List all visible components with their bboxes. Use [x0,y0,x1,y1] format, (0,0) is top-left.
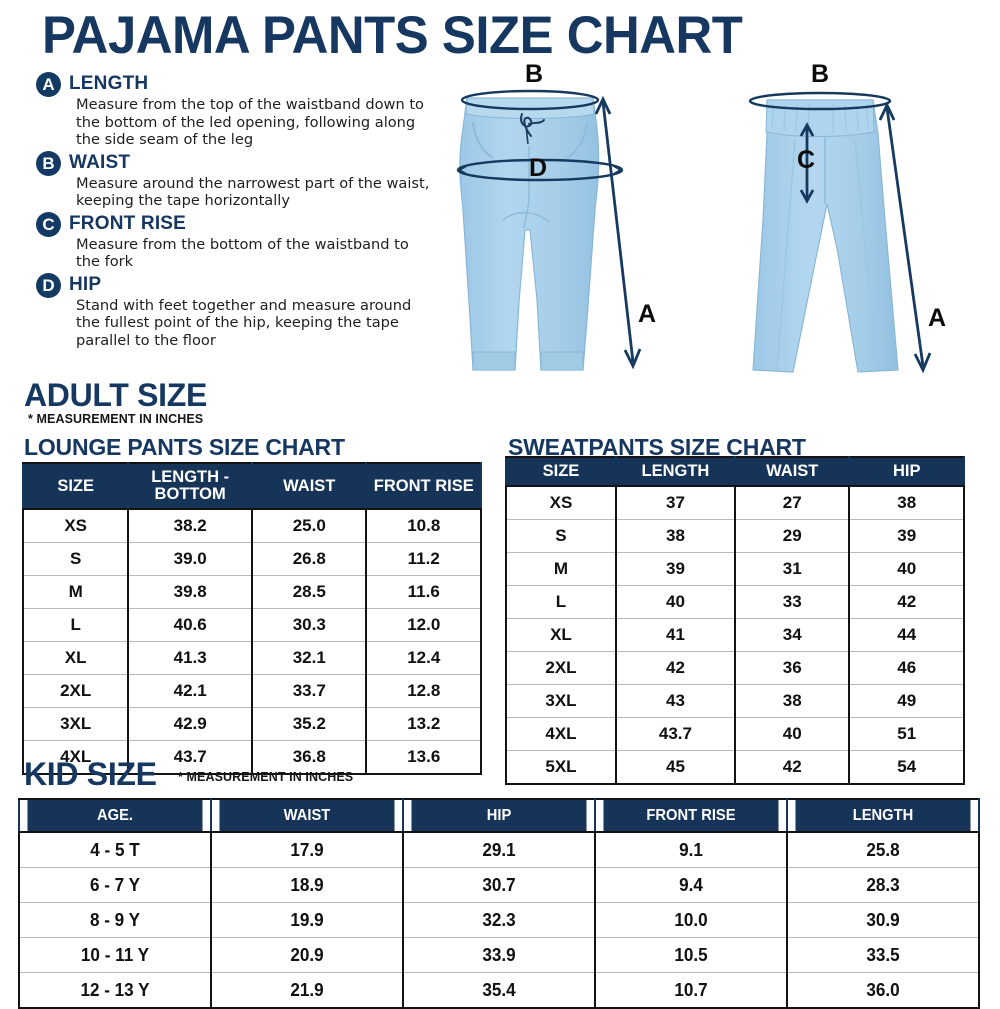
marker-a-length: A [928,306,946,331]
legend-heading: WAIST [69,151,436,175]
marker-b-waist: B [811,62,829,87]
cell-waist: 33.7 [252,675,367,708]
adult-size-heading: ADULT SIZE [24,378,207,412]
legend-item-hip: D HIP Stand with feet together and measu… [36,273,436,350]
jogger-pants-illustration: B D A [425,70,675,395]
table-row: 2XL 42 36 46 [506,652,964,685]
column-header-hip: HIP [849,457,964,486]
table-row: S 39.0 26.8 11.2 [23,543,481,576]
legend-description: Measure from the top of the waistband do… [76,96,436,149]
cell-length: 42 [616,652,735,685]
cell-hip: 42 [849,586,964,619]
cell-hip: 44 [849,619,964,652]
straight-pants-svg [715,70,965,395]
cell-hip: 35.4 [408,973,590,1009]
cell-length: 39 [616,553,735,586]
page-title: PAJAMA PANTS SIZE CHART [42,8,742,64]
table-header-row: AGE. WAIST HIP FRONT RISE LENGTH [19,799,979,832]
cell-size: S [23,543,128,576]
cell-hip: 30.7 [408,868,590,903]
cell-hip: 54 [849,751,964,785]
legend-description: Stand with feet together and measure aro… [76,297,436,350]
table-row: 5XL 45 42 54 [506,751,964,785]
table-row: 8 - 9 Y 19.9 32.3 10.0 30.9 [19,903,979,938]
column-header-age: AGE. [27,799,204,832]
marker-a-length: A [638,302,656,327]
column-header-size: SIZE [23,463,128,509]
jogger-pants-svg [425,70,675,395]
cell-waist: 32.1 [252,642,367,675]
cell-front-rise: 12.8 [366,675,481,708]
cell-length: 38.2 [128,509,252,543]
cell-front-rise: 13.6 [366,741,481,775]
cell-front-rise: 10.7 [600,973,782,1009]
cell-waist: 34 [735,619,850,652]
column-header-length: LENGTH [795,799,972,832]
lounge-pants-size-table: SIZE LENGTH - BOTTOM WAIST FRONT RISE XS… [22,462,482,775]
table-row: 4XL 43.7 40 51 [506,718,964,751]
cell-size: L [506,586,616,619]
legend-heading: LENGTH [69,72,436,96]
legend-item-length: A LENGTH Measure from the top of the wai… [36,72,436,149]
cell-length: 39.8 [128,576,252,609]
cell-hip: 32.3 [408,903,590,938]
cell-size: L [23,609,128,642]
column-header-waist: WAIST [219,799,396,832]
cell-length: 36.0 [792,973,974,1009]
cell-length: 42.1 [128,675,252,708]
cell-front-rise: 9.4 [600,868,782,903]
cell-age: 10 - 11 Y [24,938,206,973]
cell-age: 4 - 5 T [24,832,206,868]
table-row: L 40.6 30.3 12.0 [23,609,481,642]
cell-length: 28.3 [792,868,974,903]
cell-size: 3XL [23,708,128,741]
cell-length: 42.9 [128,708,252,741]
size-chart-page: PAJAMA PANTS SIZE CHART A LENGTH Measure… [0,0,1000,1000]
cell-size: XS [23,509,128,543]
legend-heading: HIP [69,273,436,297]
table-row: 3XL 42.9 35.2 13.2 [23,708,481,741]
cell-size: 2XL [23,675,128,708]
lounge-table-title: LOUNGE PANTS SIZE CHART [24,434,345,460]
cell-waist: 35.2 [252,708,367,741]
legend-description: Measure around the narrowest part of the… [76,175,436,210]
cell-hip: 40 [849,553,964,586]
cell-waist: 42 [735,751,850,785]
left-cuff [473,352,515,370]
cell-front-rise: 10.0 [600,903,782,938]
cell-waist: 26.8 [252,543,367,576]
cell-length: 40 [616,586,735,619]
adult-size-note: * MEASUREMENT IN INCHES [28,412,203,426]
cell-size: 4XL [506,718,616,751]
kid-size-table: AGE. WAIST HIP FRONT RISE LENGTH 4 - 5 T… [18,798,980,1009]
table-header-row: SIZE LENGTH WAIST HIP [506,457,964,486]
column-header-front-rise: FRONT RISE [603,799,780,832]
column-header-front-rise: FRONT RISE [366,463,481,509]
column-header-waist: WAIST [735,457,850,486]
cell-hip: 33.9 [408,938,590,973]
cell-front-rise: 9.1 [600,832,782,868]
cell-length: 39.0 [128,543,252,576]
table-row: 2XL 42.1 33.7 12.8 [23,675,481,708]
column-header-size: SIZE [506,457,616,486]
table-row: XS 38.2 25.0 10.8 [23,509,481,543]
table-row: XS 37 27 38 [506,486,964,520]
measurement-legend: A LENGTH Measure from the top of the wai… [36,72,436,351]
cell-waist: 30.3 [252,609,367,642]
table-row: XL 41.3 32.1 12.4 [23,642,481,675]
cell-front-rise: 12.0 [366,609,481,642]
cell-waist: 36 [735,652,850,685]
cell-front-rise: 11.6 [366,576,481,609]
table-row: 10 - 11 Y 20.9 33.9 10.5 33.5 [19,938,979,973]
badge-c-icon: C [36,212,61,237]
cell-hip: 39 [849,520,964,553]
cell-size: 3XL [506,685,616,718]
table-row: M 39 31 40 [506,553,964,586]
cell-waist: 25.0 [252,509,367,543]
cell-age: 12 - 13 Y [24,973,206,1009]
cell-waist: 29 [735,520,850,553]
cell-length: 37 [616,486,735,520]
column-header-length-bottom: LENGTH - BOTTOM [128,463,252,509]
cell-front-rise: 11.2 [366,543,481,576]
legend-heading: FRONT RISE [69,212,436,236]
cell-waist: 27 [735,486,850,520]
table-row: S 38 29 39 [506,520,964,553]
table-header-row: SIZE LENGTH - BOTTOM WAIST FRONT RISE [23,463,481,509]
cell-hip: 51 [849,718,964,751]
right-cuff [541,352,583,370]
cell-waist: 38 [735,685,850,718]
cell-front-rise: 10.5 [600,938,782,973]
cell-waist: 17.9 [216,832,398,868]
cell-length: 30.9 [792,903,974,938]
cell-size: XS [506,486,616,520]
kid-size-heading: KID SIZE [24,757,157,791]
cell-length: 25.8 [792,832,974,868]
cell-length: 43 [616,685,735,718]
marker-b-waist: B [525,62,543,87]
cell-waist: 19.9 [216,903,398,938]
cell-length: 33.5 [792,938,974,973]
straight-pants-illustration: B C A [715,70,965,395]
cell-size: 5XL [506,751,616,785]
legend-item-front-rise: C FRONT RISE Measure from the bottom of … [36,212,436,271]
cell-front-rise: 13.2 [366,708,481,741]
cell-size: M [23,576,128,609]
cell-size: M [506,553,616,586]
cell-size: XL [23,642,128,675]
cell-waist: 28.5 [252,576,367,609]
cell-length: 41 [616,619,735,652]
cell-hip: 46 [849,652,964,685]
badge-b-icon: B [36,151,61,176]
cell-waist: 18.9 [216,868,398,903]
jogger-body [460,98,599,370]
cell-size: S [506,520,616,553]
cell-waist: 36.8 [252,741,367,775]
cell-length: 43.7 [616,718,735,751]
badge-d-icon: D [36,273,61,298]
cell-hip: 49 [849,685,964,718]
marker-c-front-rise: C [797,148,815,173]
legend-item-waist: B WAIST Measure around the narrowest par… [36,151,436,210]
cell-length: 45 [616,751,735,785]
kid-size-note: * MEASUREMENT IN INCHES [178,770,353,784]
badge-a-icon: A [36,72,61,97]
table-row: L 40 33 42 [506,586,964,619]
cell-size: XL [506,619,616,652]
cell-size: 2XL [506,652,616,685]
cell-length: 41.3 [128,642,252,675]
cell-front-rise: 12.4 [366,642,481,675]
cell-age: 6 - 7 Y [24,868,206,903]
column-header-hip: HIP [411,799,588,832]
legend-description: Measure from the bottom of the waistband… [76,236,436,271]
cell-waist: 20.9 [216,938,398,973]
length-measure-line [603,102,633,362]
cell-age: 8 - 9 Y [24,903,206,938]
column-header-waist: WAIST [252,463,367,509]
table-row: 6 - 7 Y 18.9 30.7 9.4 28.3 [19,868,979,903]
table-row: XL 41 34 44 [506,619,964,652]
cell-hip: 38 [849,486,964,520]
table-row: M 39.8 28.5 11.6 [23,576,481,609]
cell-hip: 29.1 [408,832,590,868]
cell-front-rise: 10.8 [366,509,481,543]
marker-d-hip: D [529,156,547,181]
cell-waist: 31 [735,553,850,586]
table-row: 3XL 43 38 49 [506,685,964,718]
sweatpants-size-table: SIZE LENGTH WAIST HIP XS 37 27 38 S 38 2… [505,456,965,785]
cell-waist: 40 [735,718,850,751]
cell-waist: 21.9 [216,973,398,1009]
cell-length: 40.6 [128,609,252,642]
table-row: 12 - 13 Y 21.9 35.4 10.7 36.0 [19,973,979,1009]
cell-length: 38 [616,520,735,553]
table-row: 4 - 5 T 17.9 29.1 9.1 25.8 [19,832,979,868]
column-header-length: LENGTH [616,457,735,486]
cell-waist: 33 [735,586,850,619]
